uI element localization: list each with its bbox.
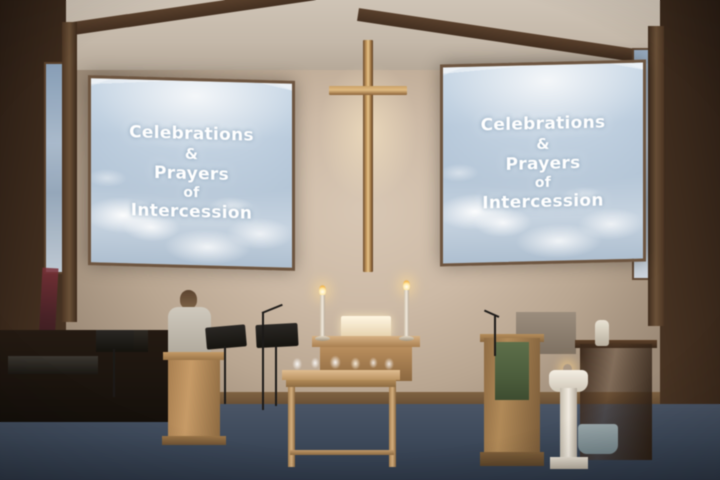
slide-line-5: Intercession (482, 191, 604, 214)
slide-line-1: Celebrations (481, 112, 606, 135)
microphone-stand-right (494, 316, 496, 356)
right-slide-text: Celebrations & Prayers of Intercession (443, 63, 643, 264)
altar-candle-right (404, 290, 409, 339)
side-wall-right (660, 0, 720, 420)
right-projection-screen[interactable]: Celebrations & Prayers of Intercession (440, 59, 646, 266)
slide-line-3: Prayers (505, 153, 580, 175)
left-projection-screen[interactable]: Celebrations & Prayers of Intercession (88, 75, 295, 271)
music-stand-far-left (96, 330, 134, 350)
church-sanctuary-scene: Celebrations & Prayers of Intercession C… (0, 0, 720, 480)
music-stand-pole-far-left (113, 349, 115, 397)
altar-candle-left (320, 295, 325, 339)
communion-table-top (282, 370, 400, 380)
slide-line-4: of (535, 175, 551, 191)
left-slide-text: Celebrations & Prayers of Intercession (91, 78, 292, 268)
music-stand-left (205, 324, 247, 349)
open-bible (341, 316, 391, 337)
foreground-congregation (0, 395, 720, 480)
candlestick-base-right (399, 336, 414, 341)
slide-line-5: Intercession (131, 200, 253, 223)
cross-vertical-beam (363, 40, 373, 272)
communion-glassware (286, 352, 398, 372)
slide-line-1: Celebrations (129, 122, 254, 145)
communion-table-apron (286, 380, 396, 387)
candlestick-base-left (315, 336, 330, 341)
ewer-pitcher (595, 320, 609, 346)
cross-horizontal-beam (329, 86, 407, 95)
slide-line-3: Prayers (154, 163, 229, 185)
wall-post-right (648, 26, 664, 326)
lectern-parament (495, 342, 529, 400)
keyboard-instrument (8, 356, 98, 374)
slide-line-4: of (183, 185, 199, 201)
pulpit-top (163, 352, 225, 360)
slide-line-2: & (536, 135, 549, 153)
slide-line-2: & (185, 145, 198, 163)
wall-post-left (62, 22, 77, 322)
